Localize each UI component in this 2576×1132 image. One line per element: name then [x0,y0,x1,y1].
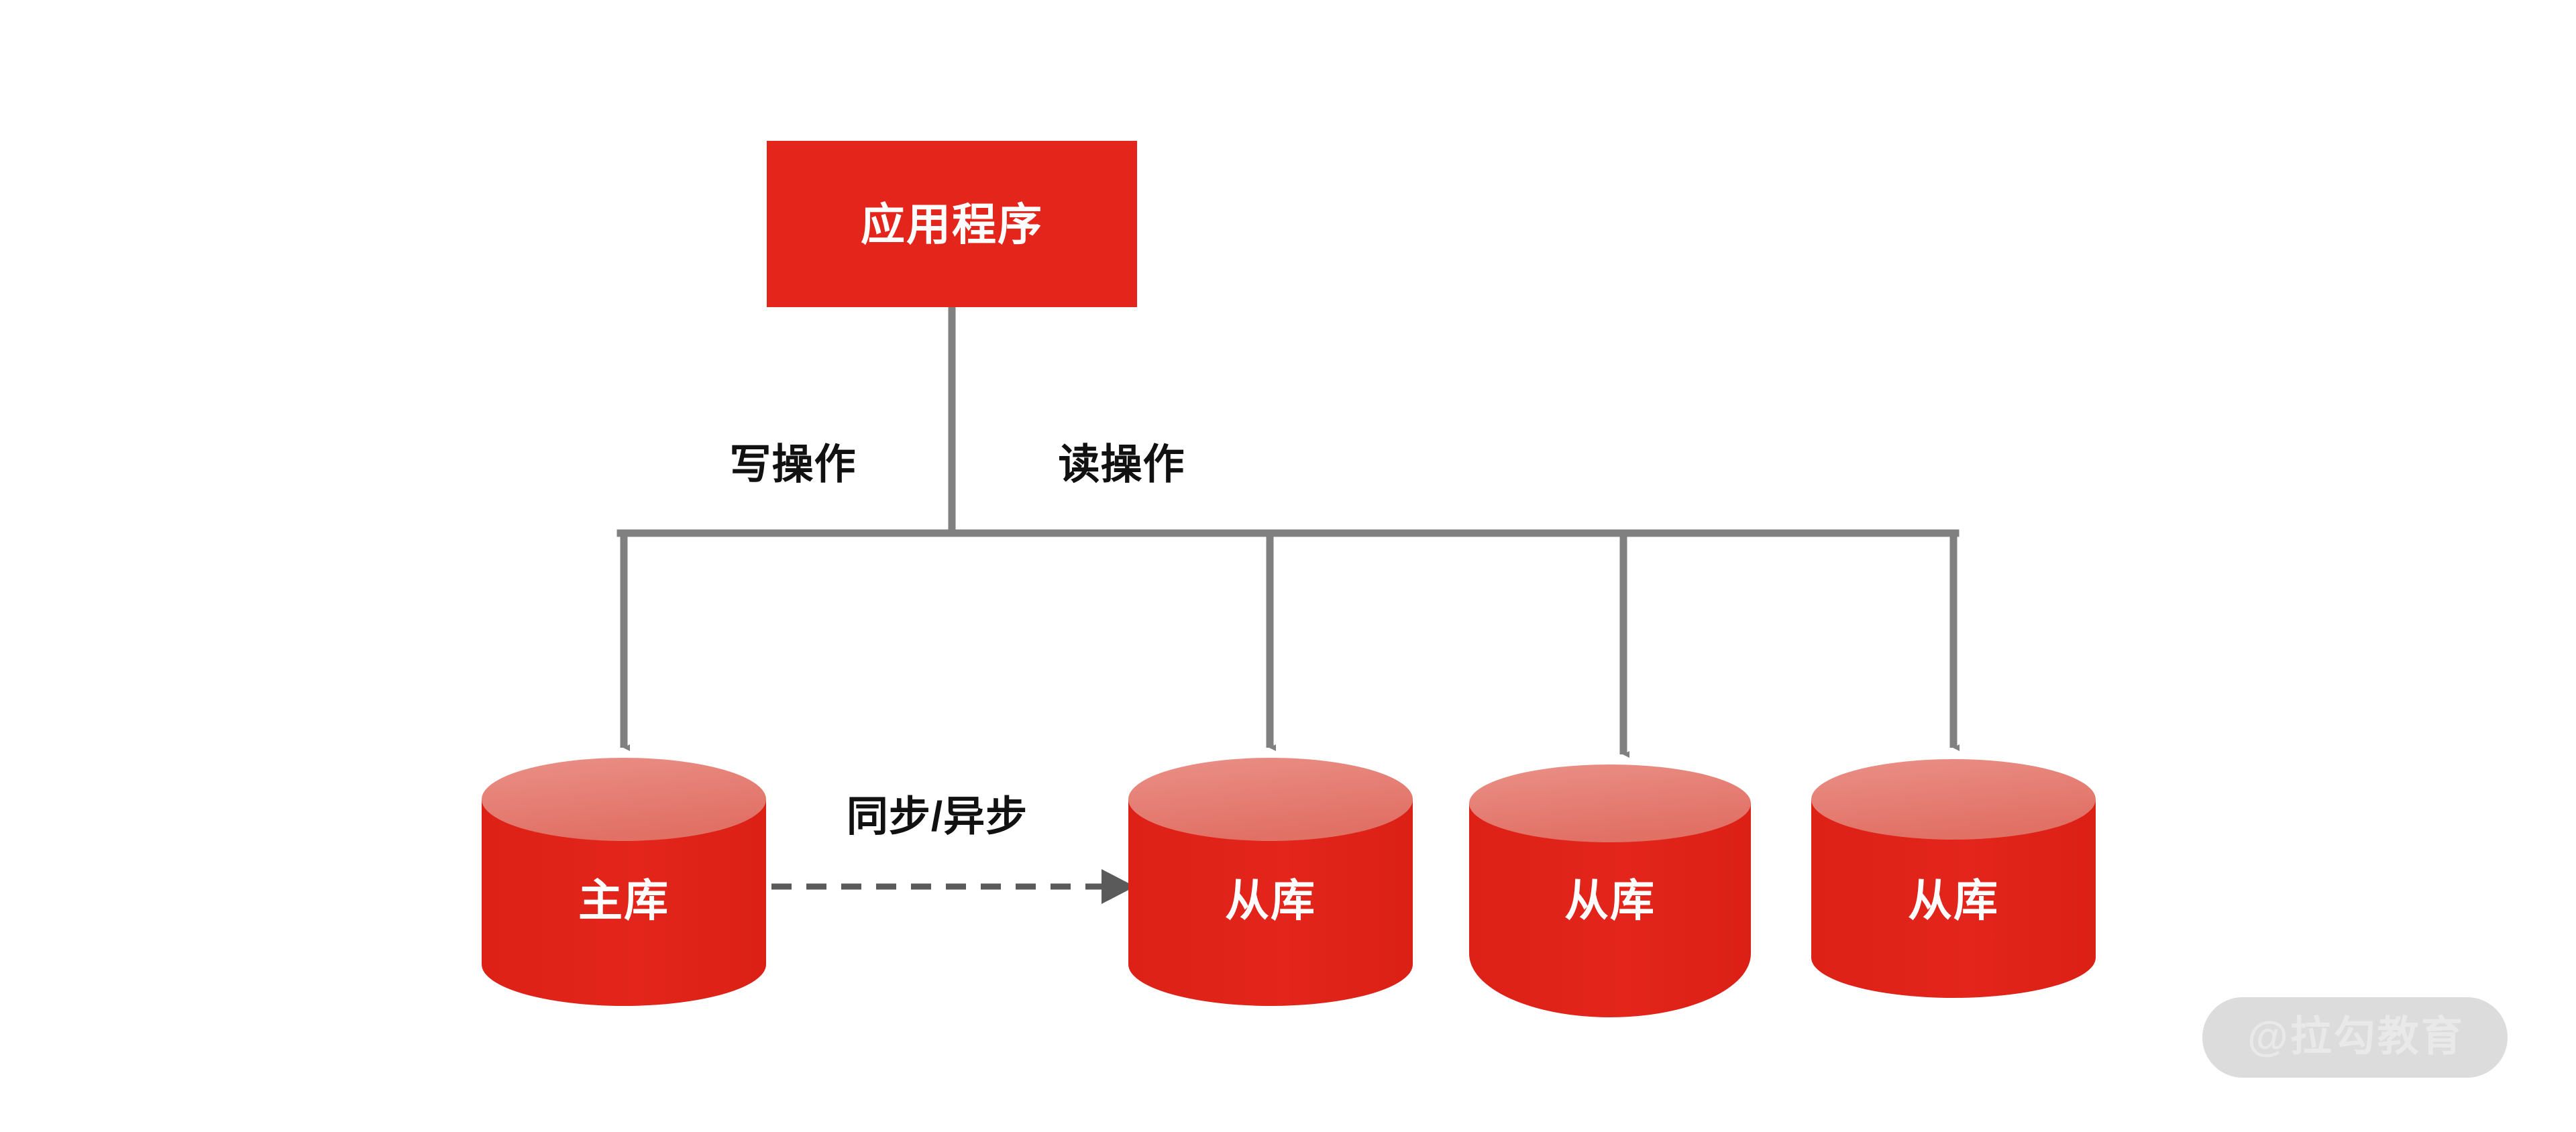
db-slave-1-label: 从库 [1225,875,1316,925]
db-node-slave-1[interactable]: 从库 [1128,758,1413,1006]
db-slave-3-top [1811,759,2096,840]
app-node-label: 应用程序 [861,199,1043,249]
watermark-label: @拉勾教育 [2247,1013,2464,1060]
edge-label-read: 读操作 [1058,441,1185,488]
replication-edge: 同步/异步 [771,793,1135,904]
diagram-svg: 应用程序 写操作 读操作 主库 [0,0,2576,1132]
db-slave-2-label: 从库 [1564,875,1656,925]
db-master-top [482,758,766,841]
db-slave-2-top [1469,765,1751,842]
edge-label-replication: 同步/异步 [847,793,1028,840]
app-node[interactable]: 应用程序 [767,141,1137,307]
watermark: @拉勾教育 [2202,997,2508,1078]
db-node-slave-2[interactable]: 从库 [1469,765,1751,1017]
edge-label-write: 写操作 [729,441,856,488]
db-master-label: 主库 [578,875,669,925]
db-slave-3-label: 从库 [1908,875,1999,925]
connector-tree [621,307,1955,754]
diagram-canvas: 应用程序 写操作 读操作 主库 [0,0,2576,1132]
db-slave-1-top [1128,758,1413,841]
db-node-slave-3[interactable]: 从库 [1811,759,2096,998]
db-node-master[interactable]: 主库 [482,758,766,1006]
